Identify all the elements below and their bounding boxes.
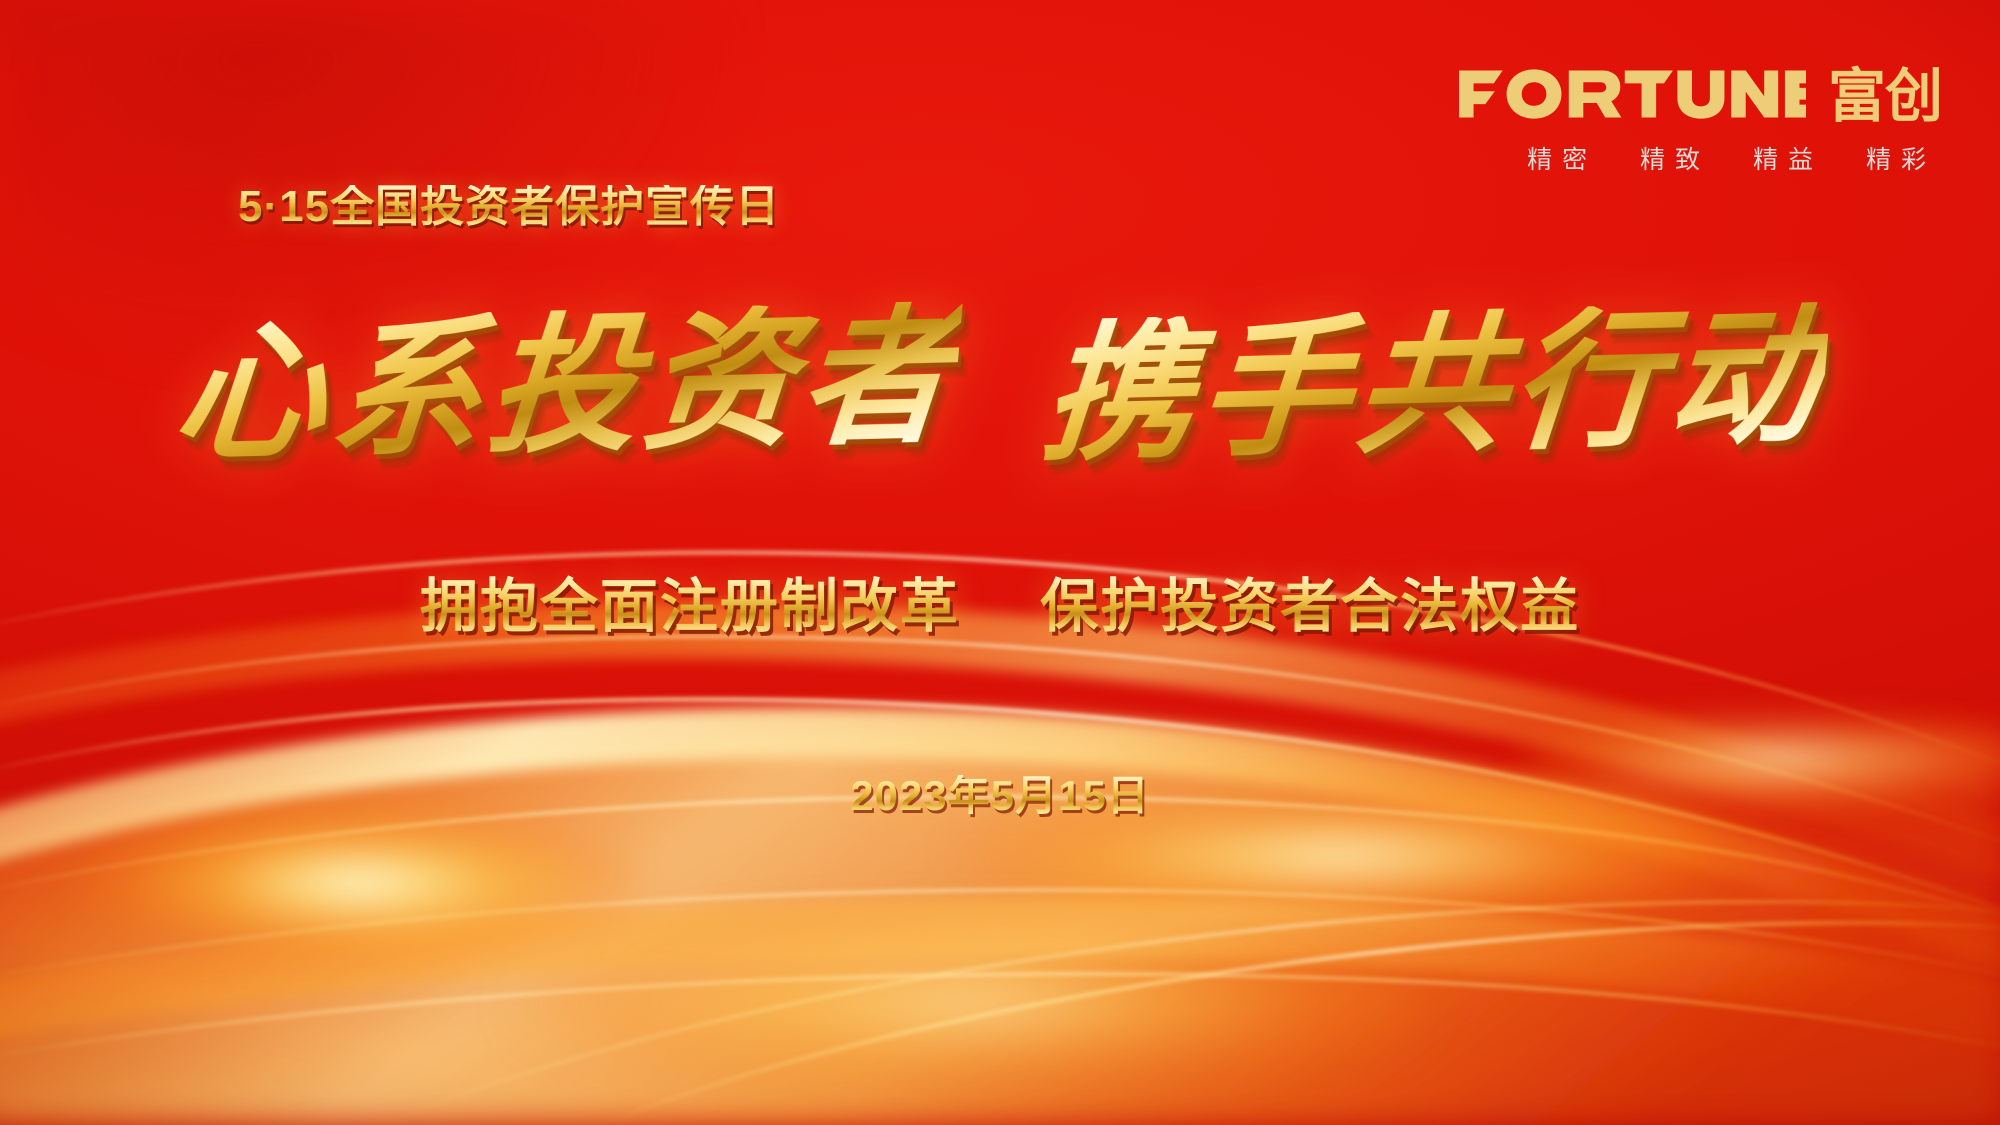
logo-chinese-name: 富创 <box>1828 69 1942 124</box>
banner-poster: 5·15全国投资者保护宣传日 <box>0 0 2000 1125</box>
slogan-right: 保护投资者合法权益 <box>1040 574 1580 639</box>
event-date: 2023年5月15日 <box>0 775 2000 817</box>
logo-row: 富创 <box>1459 58 1942 122</box>
fortune-wordmark-icon <box>1459 66 1806 122</box>
slogan-left: 拥抱全面注册制改革 <box>420 574 960 639</box>
event-title: 5·15全国投资者保护宣传日 <box>238 185 780 229</box>
slogan-line: 拥抱全面注册制改革 保护投资者合法权益 <box>0 578 2000 636</box>
logo-tagline-item-2: 精益 <box>1753 146 1823 174</box>
company-logo: 富创 精密 精致 精益 精彩 <box>1459 58 1942 176</box>
logo-tagline-item-3: 精彩 <box>1866 146 1936 174</box>
logo-tagline-item-1: 精致 <box>1640 146 1710 174</box>
logo-tagline-item-0: 精密 <box>1527 146 1597 174</box>
logo-tagline: 精密 精致 精益 精彩 <box>1459 140 1942 176</box>
